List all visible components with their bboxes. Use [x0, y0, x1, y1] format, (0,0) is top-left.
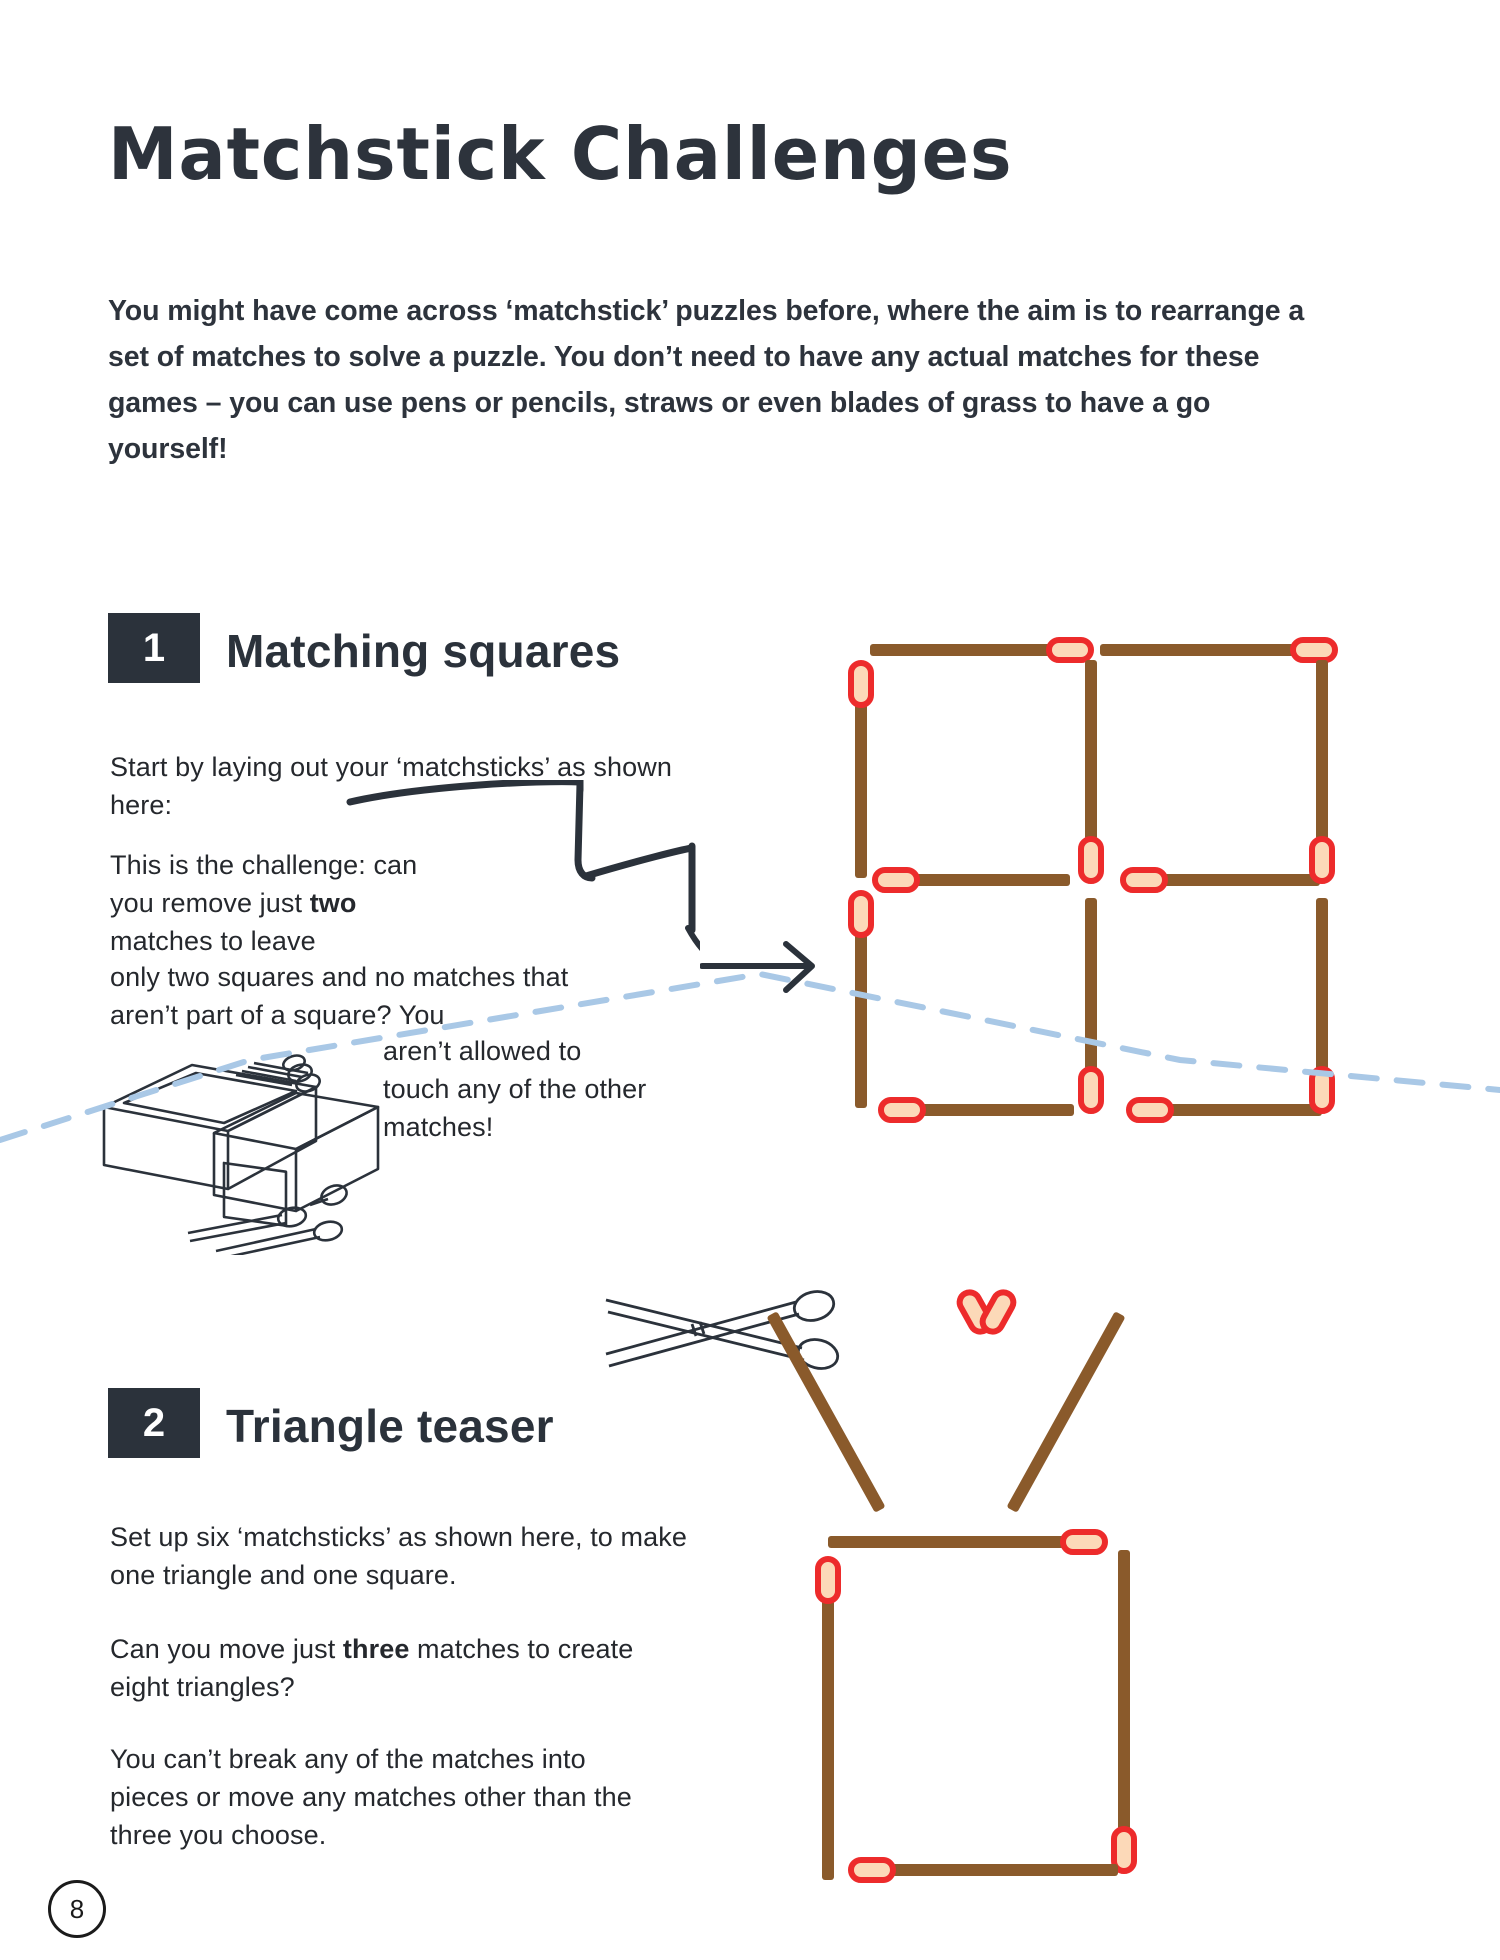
section-2-title: Triangle teaser	[226, 1399, 554, 1453]
s2-p2-part-a: Can you move just	[110, 1634, 343, 1664]
section-2-paragraph-2: Can you move just three matches to creat…	[110, 1630, 670, 1706]
s2-p2-emphasis: three	[343, 1634, 410, 1664]
crossed-matches-illustration	[600, 1280, 860, 1390]
section-2-paragraph-3: You can’t break any of the matches into …	[110, 1740, 670, 1854]
page-title: Matchstick Challenges	[108, 112, 1013, 196]
dashed-divider	[0, 940, 1500, 1160]
section-2-number-badge: 2	[108, 1388, 200, 1458]
intro-paragraph: You might have come across ‘matchstick’ …	[108, 288, 1313, 472]
page-canvas: Matchstick Challenges You might have com…	[0, 0, 1500, 1960]
section-1-title: Matching squares	[226, 624, 620, 678]
section-2-paragraph-1: Set up six ‘matchsticks’ as shown here, …	[110, 1518, 690, 1594]
page-number: 8	[48, 1880, 106, 1938]
section-1-number-badge: 1	[108, 613, 200, 683]
